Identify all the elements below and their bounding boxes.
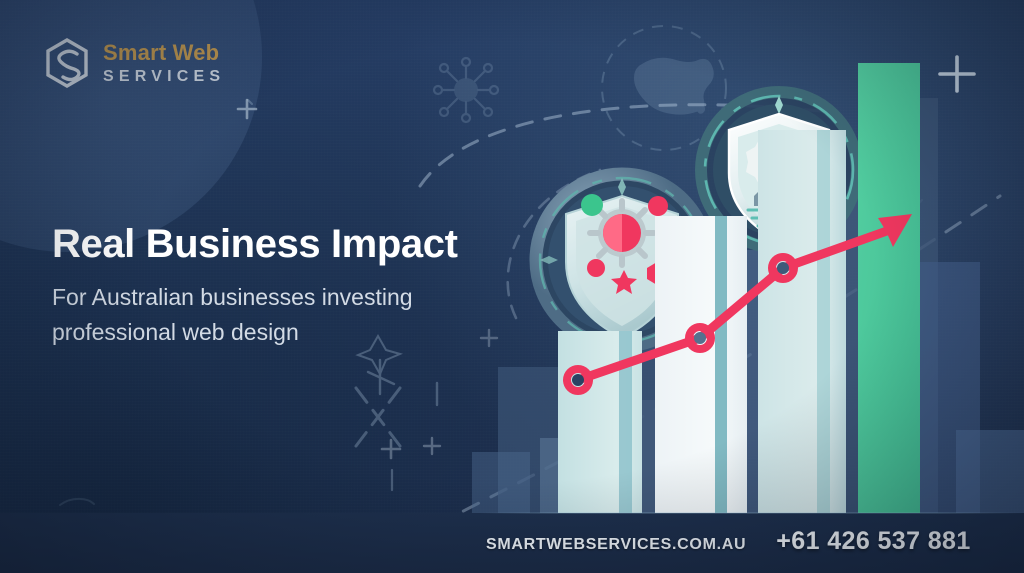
brand-logo-text: Smart Web SERVICES bbox=[103, 42, 225, 85]
bar-2 bbox=[655, 216, 747, 513]
footer-website-link[interactable]: SMARTWEBSERVICES.COM.AU bbox=[486, 536, 746, 554]
hero-subline: For Australian businesses investing prof… bbox=[52, 280, 502, 350]
bar-4 bbox=[858, 63, 920, 513]
footer-phone-number[interactable]: +61 426 537 881 bbox=[776, 527, 970, 556]
marketing-banner: Smart Web SERVICES Real Business Impact … bbox=[0, 0, 1024, 573]
hero-headline: Real Business Impact bbox=[52, 222, 458, 267]
floor-line bbox=[480, 512, 1024, 514]
brand-logo[interactable]: Smart Web SERVICES bbox=[44, 38, 225, 88]
hexagon-s-logo-icon bbox=[44, 38, 90, 88]
brand-name-top: Smart Web bbox=[103, 42, 225, 64]
footer-contact: SMARTWEBSERVICES.COM.AU +61 426 537 881 bbox=[486, 527, 971, 556]
bar-3 bbox=[758, 130, 846, 513]
brand-name-bottom: SERVICES bbox=[103, 69, 225, 85]
faint-virus-glyph bbox=[434, 58, 498, 122]
